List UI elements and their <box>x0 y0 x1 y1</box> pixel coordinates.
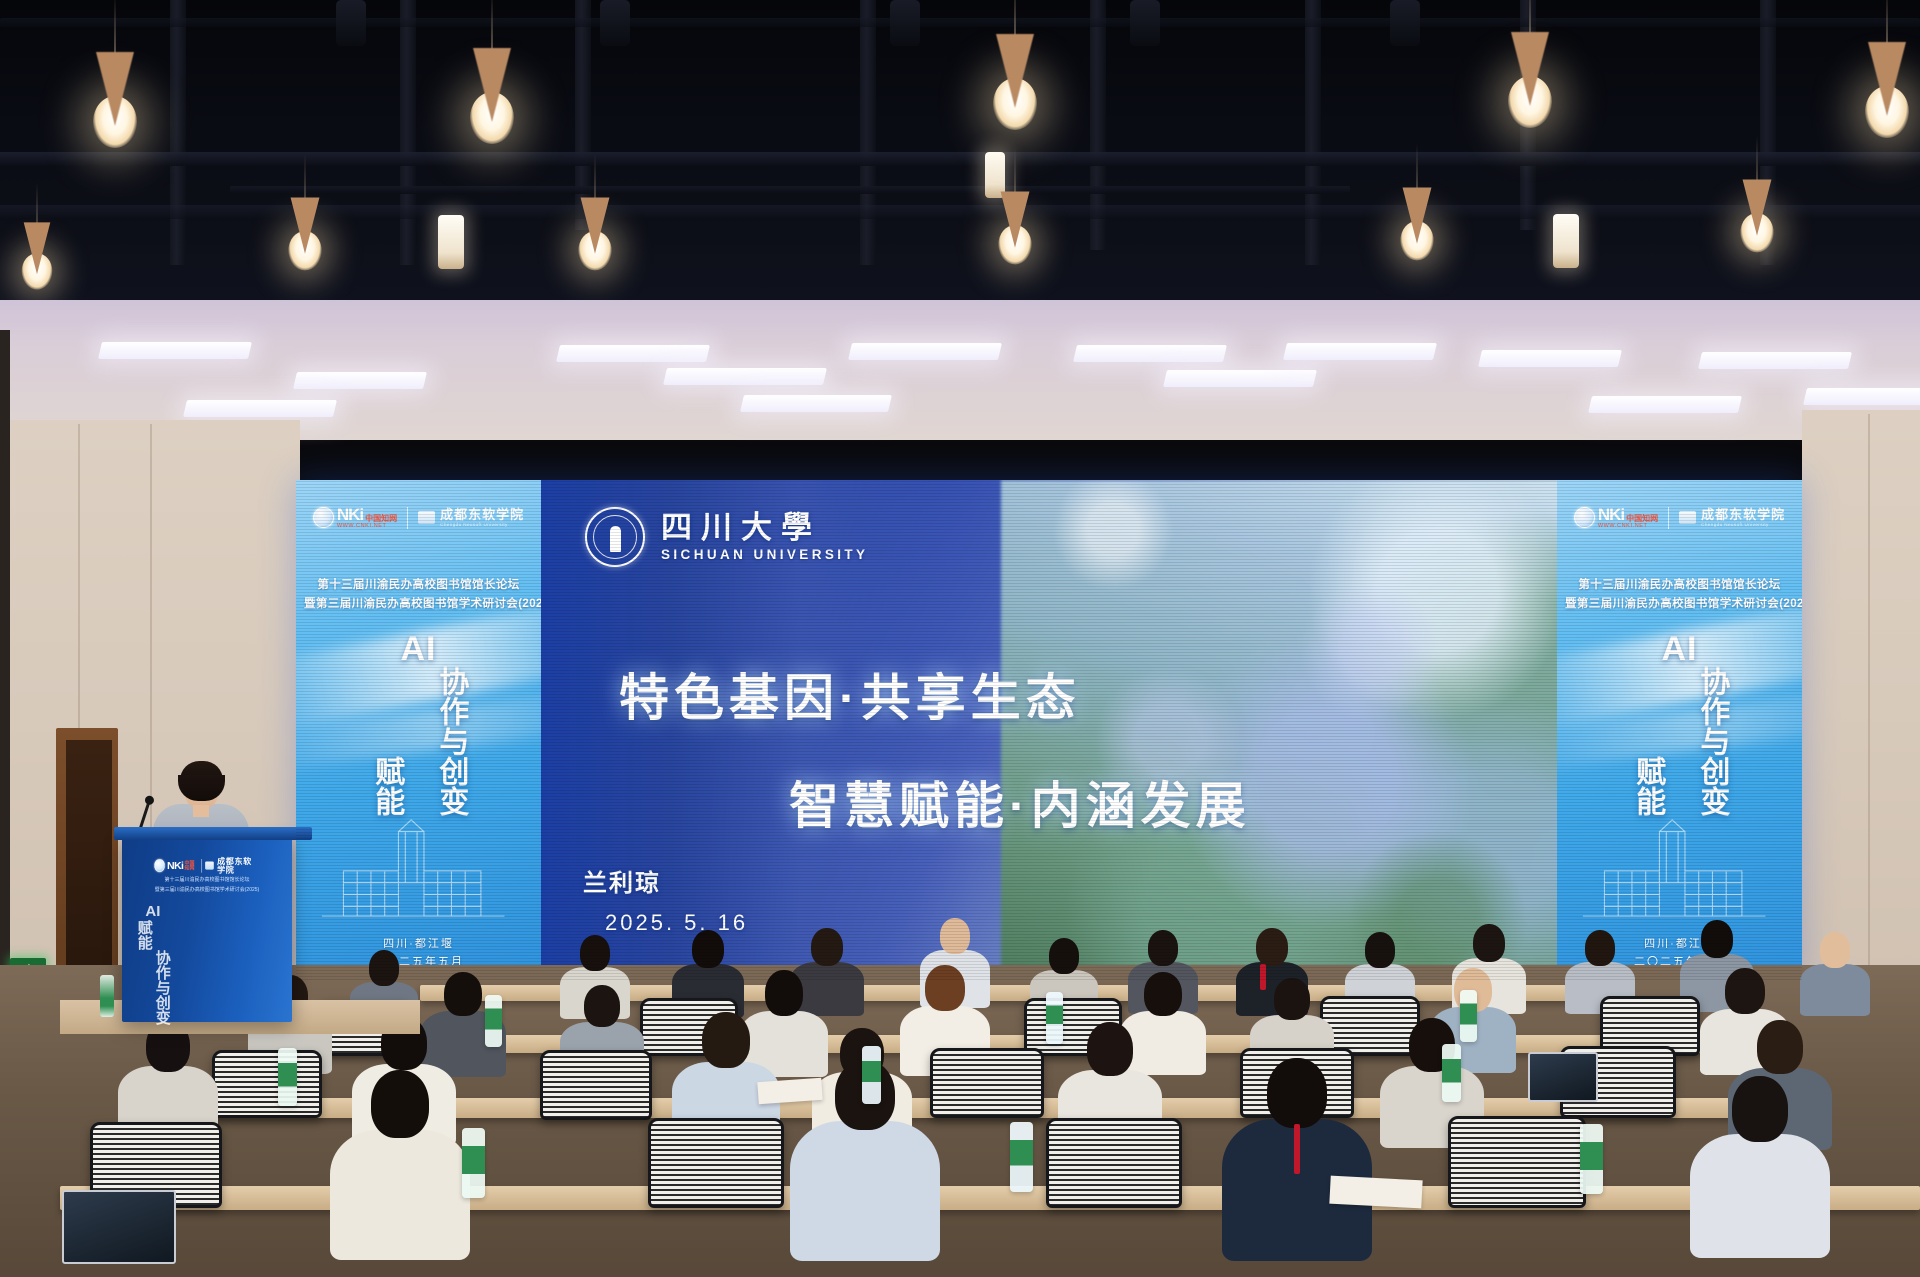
chair <box>540 1050 652 1120</box>
podium-theme-col2: 协作与创变 <box>154 950 170 1025</box>
side-banner-right: NKi 中国知网 WWW.CNKI.NET 成都东软学院 Chengdu Neu… <box>1557 480 1802 980</box>
pendant-lamp <box>1736 180 1777 253</box>
water-bottle <box>1580 1124 1603 1194</box>
podium-neusoft-logo: 成都东软学院 <box>205 857 259 874</box>
theme-col2: 协作与创变 <box>1695 666 1729 816</box>
theme-col1: 赋能 <box>1631 756 1665 816</box>
handout-paper <box>1329 1176 1422 1209</box>
neusoft-mark-icon <box>1679 511 1696 524</box>
main-presentation-slide: 四川大學 SICHUAN UNIVERSITY 特色基因·共享生态 智慧赋能·内… <box>541 480 1557 980</box>
forum-title-line2: 暨第三届川渝民办高校图书馆学术研讨会(2025) <box>1565 595 1794 614</box>
speaker-hair <box>180 761 223 791</box>
cnki-url: WWW.CNKI.NET <box>337 524 397 530</box>
slide-byline: 兰利琼 2025. 5. 16 <box>583 863 748 936</box>
left-wall-return <box>0 330 10 1050</box>
sponsor-logos: NKi 中国知网 WWW.CNKI.NET 成都东软学院 Chengdu Neu… <box>296 506 541 530</box>
podium-title-line1: 第十三届川渝民办高校图书馆馆长论坛 <box>128 876 286 886</box>
headline-line1: 特色基因·共享生态 <box>619 658 1557 730</box>
cnki-wordmark: NKi <box>167 860 183 871</box>
university-name-cn: 四川大學 <box>661 512 868 545</box>
water-bottle <box>100 975 114 1017</box>
presentation-date: 2025. 5. 16 <box>605 910 748 936</box>
footer-location: 四川·都江堰 <box>296 935 541 954</box>
ceiling <box>0 0 1920 330</box>
forum-title-line1: 第十三届川渝民办高校图书馆馆长论坛 <box>1565 576 1794 595</box>
podium-cnki-logo: NKi 中国知网 <box>154 859 197 872</box>
water-bottle <box>1010 1122 1033 1192</box>
conference-hall-photo: NKi 中国知网 WWW.CNKI.NET 成都东软学院 Chengdu Neu… <box>0 0 1920 1277</box>
cnki-cn-name: 中国知网 <box>1626 515 1658 523</box>
neusoft-cn-name: 成都东软学院 <box>1701 508 1785 522</box>
theme-ai: AI <box>1557 632 1802 666</box>
university-name-en: SICHUAN UNIVERSITY <box>661 547 868 562</box>
water-bottle <box>862 1046 881 1104</box>
neusoft-cn-name: 成都东软学院 <box>217 857 260 874</box>
cnki-logo-right: NKi 中国知网 WWW.CNKI.NET <box>1574 506 1658 530</box>
podium-title-line2: 暨第三届川渝民办高校图书馆学术研讨会(2025) <box>128 886 286 896</box>
water-bottle <box>278 1048 297 1106</box>
podium: NKi 中国知网 成都东软学院 第十三届川渝民办高校图书馆馆长论坛 暨第三届川渝… <box>122 836 292 1022</box>
university-seal-icon <box>585 507 645 567</box>
water-bottle <box>485 995 502 1047</box>
presenter-name: 兰利琼 <box>583 863 748 898</box>
cnki-cn-name: 中国知网 <box>365 515 397 523</box>
pendant-lamp <box>284 198 325 271</box>
pendant-lamp <box>88 52 142 148</box>
ceiling-downlight <box>1553 214 1579 268</box>
water-bottle <box>1046 992 1063 1044</box>
speaker-head <box>184 767 219 809</box>
forum-title-line1: 第十三届川渝民办高校图书馆馆长论坛 <box>304 576 533 595</box>
forum-title-line2: 暨第三届川渝民办高校图书馆学术研讨会(2025) <box>304 595 533 614</box>
theme-col2: 协作与创变 <box>434 666 468 816</box>
globe-icon <box>313 507 334 528</box>
tablet-device <box>1528 1052 1598 1102</box>
cnki-url: WWW.CNKI.NET <box>1598 524 1658 530</box>
theme-vertical-right: AI 赋能 协作与创变 <box>1557 632 1802 821</box>
water-bottle <box>462 1128 485 1198</box>
logo-divider <box>407 507 408 529</box>
cnki-cn-name: 中国知网 <box>185 861 198 871</box>
pendant-lamp <box>465 48 519 144</box>
pendant-lamp <box>1860 42 1914 138</box>
globe-icon <box>154 859 165 872</box>
neusoft-mark-icon <box>418 511 435 524</box>
pendant-lamp <box>988 34 1042 130</box>
theme-col1: 赋能 <box>370 756 404 816</box>
handout-paper <box>757 1078 822 1104</box>
attendee <box>1800 932 1870 1016</box>
sichuan-university-logo: 四川大學 SICHUAN UNIVERSITY <box>585 507 868 567</box>
pendant-lamp <box>1396 188 1437 261</box>
campus-building-art-right <box>1575 814 1771 922</box>
podium-sponsor-logos: NKi 中国知网 成都东软学院 <box>154 857 259 874</box>
chair <box>212 1050 322 1118</box>
forum-title-right: 第十三届川渝民办高校图书馆馆长论坛 暨第三届川渝民办高校图书馆学术研讨会(202… <box>1565 576 1794 614</box>
theme-ai: AI <box>296 632 541 666</box>
neusoft-logo: 成都东软学院 Chengdu Neusoft University <box>418 508 524 527</box>
side-banner-left: NKi 中国知网 WWW.CNKI.NET 成都东软学院 Chengdu Neu… <box>296 480 541 980</box>
chair <box>930 1048 1044 1118</box>
logo-divider <box>1668 507 1669 529</box>
cnki-logo: NKi 中国知网 WWW.CNKI.NET <box>313 506 397 530</box>
neusoft-cn-name: 成都东软学院 <box>440 508 524 522</box>
neusoft-mark-icon <box>205 862 214 870</box>
pendant-lamp <box>994 192 1035 265</box>
attendee <box>1222 1058 1372 1261</box>
campus-building-art <box>314 814 510 922</box>
headline-line2: 智慧赋能·内涵发展 <box>789 766 1557 838</box>
tablet-device <box>62 1190 176 1264</box>
chair <box>1448 1116 1586 1208</box>
logo-divider <box>201 859 202 873</box>
water-bottle <box>1442 1044 1461 1102</box>
forum-title-left: 第十三届川渝民办高校图书馆馆长论坛 暨第三届川渝民办高校图书馆学术研讨会(202… <box>304 576 533 614</box>
sponsor-logos-right: NKi 中国知网 WWW.CNKI.NET 成都东软学院 Chengdu Neu… <box>1557 506 1802 530</box>
podium-theme-ai: AI <box>136 904 170 920</box>
ceiling-downlight <box>438 215 464 269</box>
slide-headline: 特色基因·共享生态 智慧赋能·内涵发展 <box>541 658 1557 838</box>
neusoft-en-name: Chengdu Neusoft University <box>440 522 524 527</box>
podium-forum-title: 第十三届川渝民办高校图书馆馆长论坛 暨第三届川渝民办高校图书馆学术研讨会(202… <box>128 876 286 895</box>
globe-icon <box>1574 507 1595 528</box>
cnki-wordmark: NKi <box>1598 506 1624 523</box>
led-video-wall: NKi 中国知网 WWW.CNKI.NET 成都东软学院 Chengdu Neu… <box>296 480 1802 980</box>
attendee <box>330 1070 470 1260</box>
podium-top <box>114 827 312 840</box>
theme-vertical-left: AI 赋能 协作与创变 <box>296 632 541 821</box>
soffit-ceiling <box>0 300 1920 440</box>
pendant-lamp <box>1503 32 1557 128</box>
podium-theme-col1: 赋能 <box>136 920 152 950</box>
pendant-lamp <box>18 222 56 289</box>
attendee <box>1690 1076 1830 1258</box>
chair <box>1046 1118 1182 1208</box>
pendant-lamp <box>574 198 615 271</box>
water-bottle <box>1460 990 1477 1042</box>
neusoft-en-name: Chengdu Neusoft University <box>1701 522 1785 527</box>
chair <box>648 1118 784 1208</box>
neusoft-logo-right: 成都东软学院 Chengdu Neusoft University <box>1679 508 1785 527</box>
podium-theme: AI 赋能 协作与创变 <box>136 904 170 1025</box>
cnki-wordmark: NKi <box>337 506 363 523</box>
